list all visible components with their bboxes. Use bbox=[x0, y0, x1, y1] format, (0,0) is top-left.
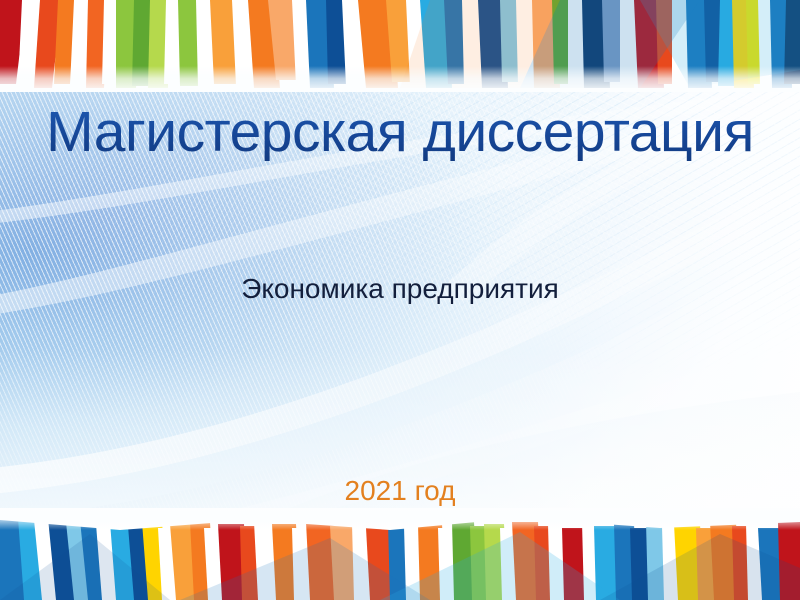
presentation-slide: Магистерская диссертация Экономика предп… bbox=[0, 0, 800, 600]
top-decorative-border bbox=[0, 0, 800, 92]
bottom-decorative-border bbox=[0, 508, 800, 600]
slide-title: Магистерская диссертация bbox=[0, 103, 800, 161]
slide-year: 2021 год bbox=[0, 474, 800, 508]
slide-subtitle: Экономика предприятия bbox=[0, 272, 800, 306]
top-border-shards bbox=[0, 0, 800, 92]
bottom-border-shards bbox=[0, 508, 800, 600]
